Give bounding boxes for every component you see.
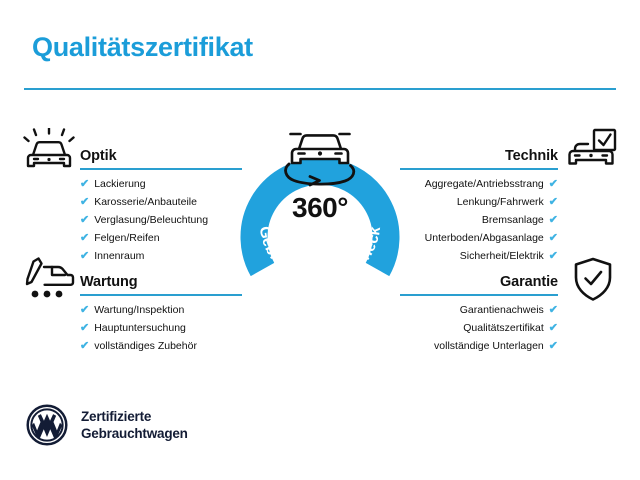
list-item: ✔ Innenraum	[80, 251, 242, 262]
list-item: ✔ Unterboden/Abgasanlage	[400, 233, 558, 244]
check-icon: ✔	[80, 197, 89, 208]
checklist-wartung: ✔ Wartung/Inspektion ✔ Hauptuntersuchung…	[80, 305, 242, 352]
list-item: ✔ Verglasung/Beleuchtung	[80, 215, 242, 226]
list-item: ✔ Lenkung/Fahrwerk	[400, 197, 558, 208]
list-item: ✔ Sicherheit/Elektrik	[400, 251, 558, 262]
section-wartung: Wartung ✔ Wartung/Inspektion ✔ Hauptunte…	[80, 262, 242, 359]
checklist-technik: ✔ Aggregate/Antriebsstrang ✔ Lenkung/Fah…	[400, 179, 558, 262]
certificate-page: Qualitätszertifikat Optik ✔ Lackierung ✔…	[0, 0, 640, 480]
list-item-label: vollständige Unterlagen	[434, 341, 544, 352]
list-item-label: Lenkung/Fahrwerk	[457, 197, 544, 208]
list-item: ✔ vollständiges Zubehör	[80, 341, 242, 352]
section-garantie: Garantie ✔ Garantienachweis ✔ Qualitätsz…	[400, 262, 558, 359]
list-item: ✔ Aggregate/Antriebsstrang	[400, 179, 558, 190]
check-icon: ✔	[80, 179, 89, 190]
section-divider	[80, 294, 242, 296]
list-item-label: Karosserie/Anbauteile	[94, 197, 197, 208]
vw-footer: Zertifizierte Gebrauchtwagen	[26, 404, 188, 446]
section-title-technik: Technik	[505, 148, 558, 164]
list-item-label: Garantienachweis	[460, 305, 544, 316]
check-icon: ✔	[80, 323, 89, 334]
list-item-label: Lackierung	[94, 179, 145, 190]
list-item-label: Wartung/Inspektion	[94, 305, 184, 316]
check-icon: ✔	[80, 233, 89, 244]
checklist-garantie: ✔ Garantienachweis ✔ Qualitätszertifikat…	[400, 305, 558, 352]
list-item-label: Innenraum	[94, 251, 144, 262]
list-item: ✔ Bremsanlage	[400, 215, 558, 226]
list-item: ✔ Hauptuntersuchung	[80, 323, 242, 334]
list-item: ✔ Garantienachweis	[400, 305, 558, 316]
section-divider	[400, 294, 558, 296]
section-header: Garantie	[400, 262, 558, 296]
check-icon: ✔	[549, 197, 558, 208]
car-checkbox-icon	[564, 128, 618, 176]
title-divider	[24, 88, 616, 90]
section-divider	[400, 168, 558, 170]
check-icon: ✔	[80, 215, 89, 226]
list-item-label: vollständiges Zubehör	[94, 341, 197, 352]
list-item: ✔ vollständige Unterlagen	[400, 341, 558, 352]
check-icon: ✔	[80, 341, 89, 352]
vw-footer-line2: Gebrauchtwagen	[81, 425, 188, 442]
list-item: ✔ Felgen/Reifen	[80, 233, 242, 244]
badge-360-gebrauchtwagen-check: Gebrauchtwagen-Check 360°	[236, 120, 404, 296]
check-icon: ✔	[549, 305, 558, 316]
check-icon: ✔	[80, 251, 89, 262]
check-icon: ✔	[549, 251, 558, 262]
badge-center-label: 360°	[236, 192, 404, 224]
section-header: Technik	[400, 136, 558, 170]
list-item-label: Unterboden/Abgasanlage	[425, 233, 544, 244]
svg-text:Gebrauchtwagen-Check: Gebrauchtwagen-Check	[256, 225, 384, 288]
list-item: ✔ Qualitätszertifikat	[400, 323, 558, 334]
page-title: Qualitätszertifikat	[32, 32, 253, 63]
list-item-label: Felgen/Reifen	[94, 233, 159, 244]
section-header: Optik	[80, 136, 242, 170]
service-book-icon	[22, 256, 76, 304]
section-title-wartung: Wartung	[80, 274, 138, 290]
shield-check-icon	[566, 256, 620, 304]
checklist-optik: ✔ Lackierung ✔ Karosserie/Anbauteile ✔ V…	[80, 179, 242, 262]
section-optik: Optik ✔ Lackierung ✔ Karosserie/Anbautei…	[80, 136, 242, 269]
list-item-label: Hauptuntersuchung	[94, 323, 186, 334]
car-shine-icon	[22, 128, 76, 176]
vw-logo-icon	[26, 404, 68, 446]
check-icon: ✔	[549, 323, 558, 334]
section-header: Wartung	[80, 262, 242, 296]
check-icon: ✔	[549, 341, 558, 352]
section-technik: Technik ✔ Aggregate/Antriebsstrang ✔ Len…	[400, 136, 558, 269]
check-icon: ✔	[549, 215, 558, 226]
list-item: ✔ Karosserie/Anbauteile	[80, 197, 242, 208]
vw-footer-line1: Zertifizierte	[81, 408, 188, 425]
list-item: ✔ Lackierung	[80, 179, 242, 190]
list-item-label: Aggregate/Antriebsstrang	[425, 179, 544, 190]
list-item-label: Sicherheit/Elektrik	[460, 251, 544, 262]
list-item-label: Bremsanlage	[482, 215, 544, 226]
vw-footer-text: Zertifizierte Gebrauchtwagen	[81, 408, 188, 443]
section-divider	[80, 168, 242, 170]
check-icon: ✔	[80, 305, 89, 316]
check-icon: ✔	[549, 233, 558, 244]
section-title-optik: Optik	[80, 148, 117, 164]
section-title-garantie: Garantie	[500, 274, 558, 290]
list-item-label: Qualitätszertifikat	[463, 323, 544, 334]
list-item: ✔ Wartung/Inspektion	[80, 305, 242, 316]
check-icon: ✔	[549, 179, 558, 190]
badge-ring-label: Gebrauchtwagen-Check	[256, 225, 384, 288]
list-item-label: Verglasung/Beleuchtung	[94, 215, 208, 226]
